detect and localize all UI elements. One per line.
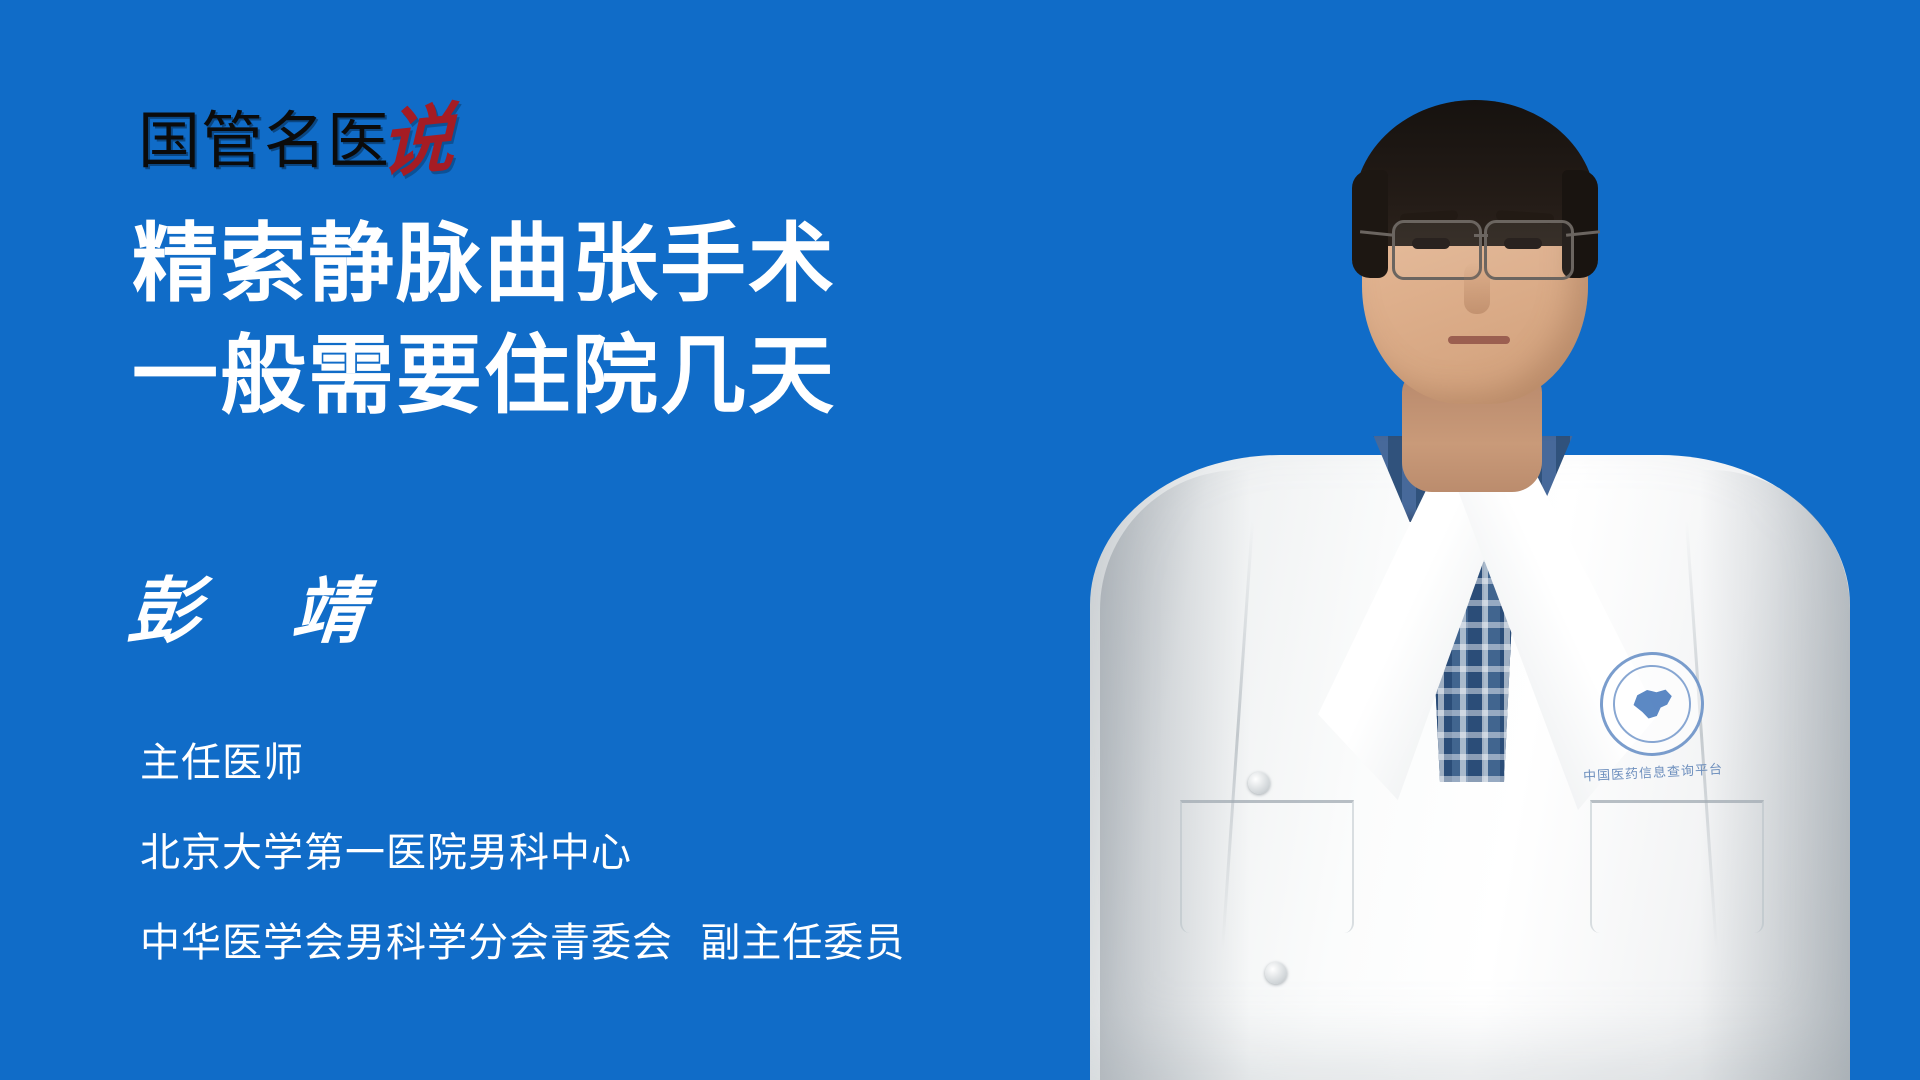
brand-logo: 国管名医 说 [138,96,454,174]
coat-pocket-left [1180,800,1354,933]
doctor-credential-affiliation: 北京大学第一医院男科中心 [140,808,1140,898]
coat-button-bottom [1265,962,1287,984]
hair-side-left [1352,170,1388,278]
page-title: 精索静脉曲张手术 一般需要住院几天 [132,208,1062,432]
page-title-line-1: 精索静脉曲张手术 [132,208,1062,320]
china-map-icon [1630,686,1674,722]
coat-pocket-right [1590,800,1764,933]
brand-logo-accent-text: 说 [380,106,454,178]
doctor-credential-society: 中华医学会男科学分会青委会 副主任委员 [140,898,1140,988]
video-cover-slide: 国管名医 说 精索静脉曲张手术 一般需要住院几天 彭 靖 主任医师 北京大学第一… [0,0,1920,1080]
coat-shadow-left [1100,470,1250,1080]
brand-logo-main-text: 国管名医 [138,108,390,174]
nose [1464,262,1490,314]
coat-button-top [1248,772,1270,794]
doctor-credentials: 主任医师 北京大学第一医院男科中心 中华医学会男科学分会青委会 副主任委员 [140,718,1140,988]
page-title-line-2: 一般需要住院几天 [132,320,1062,432]
doctor-name: 彭 靖 [124,568,382,654]
eyeglasses-lens-right [1484,220,1574,280]
doctor-credential-title: 主任医师 [140,718,1140,808]
mouth [1448,336,1510,344]
doctor-portrait: 中国医药信息查询平台 [1060,0,1920,1080]
eyeglasses-bridge [1474,234,1488,237]
platform-emblem-inner [1611,663,1693,745]
